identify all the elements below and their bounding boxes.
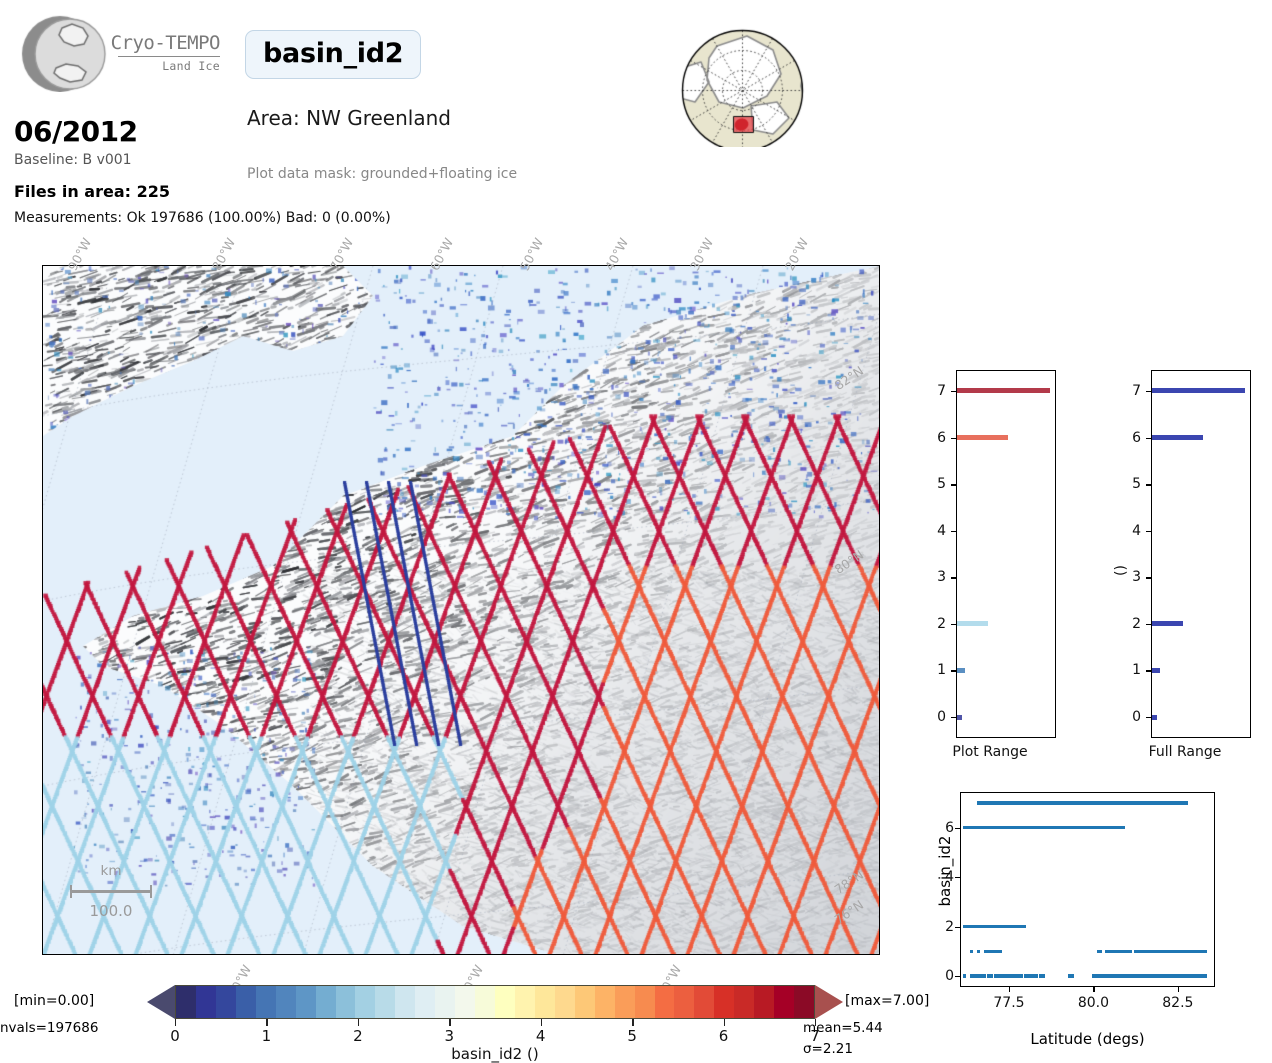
plot-range-frame <box>956 370 1056 738</box>
histogram-ytick-mark <box>1146 577 1151 578</box>
colorbar-band <box>655 986 675 1018</box>
scalebar-value: 100.0 <box>58 902 164 920</box>
colorbar-title: basin_id2 () <box>175 1045 815 1063</box>
main-map[interactable] <box>42 265 880 955</box>
colorbar-band <box>316 986 336 1018</box>
histogram-bar <box>957 715 962 720</box>
histogram-ytick-label: 1 <box>1115 662 1141 678</box>
colorbar-tick-label: 6 <box>719 1027 729 1045</box>
colorbar-band <box>216 986 236 1018</box>
scatter-ytick-label: 0 <box>928 968 954 984</box>
histogram-bar <box>957 621 988 626</box>
scatter-point <box>1042 974 1045 977</box>
histogram-ytick-mark <box>1146 624 1151 625</box>
histogram-ytick-label: 7 <box>920 383 946 399</box>
scatter-ytick-mark <box>955 877 960 878</box>
scatter-ytick-mark <box>955 927 960 928</box>
scatter-point <box>1020 974 1023 977</box>
colorbar-band <box>535 986 555 1018</box>
histogram-bar <box>1152 388 1245 393</box>
scatter-point <box>999 950 1002 953</box>
colorbar-band <box>176 986 196 1018</box>
scatter-point <box>977 950 980 953</box>
scatter-point <box>1185 801 1188 804</box>
histogram-bar <box>1152 435 1203 440</box>
histogram-bar <box>957 435 1008 440</box>
scatter-point <box>1129 950 1132 953</box>
histogram-ytick-mark <box>1146 391 1151 392</box>
scatter-point <box>1122 826 1125 829</box>
histogram-ytick-mark <box>1146 531 1151 532</box>
colorbar-band <box>555 986 575 1018</box>
colorbar-tick-label: 0 <box>170 1027 180 1045</box>
scatter-ytick-mark <box>955 828 960 829</box>
histogram-ytick-mark <box>951 670 956 671</box>
latitude-scatter-plot[interactable]: 024677.580.082.5 <box>960 792 1215 987</box>
date-label: 06/2012 <box>14 115 138 148</box>
files-count-label: Files in area: 225 <box>14 182 170 201</box>
logo-title: Cryo-TEMPO <box>100 34 220 53</box>
colorbar-band <box>415 986 435 1018</box>
area-label: Area: NW Greenland <box>247 106 451 130</box>
scatter-point <box>1204 974 1207 977</box>
colorbar-gradient <box>175 985 815 1019</box>
logo-text: Cryo-TEMPO Land Ice <box>100 34 220 73</box>
histogram-ytick-mark <box>1146 670 1151 671</box>
full-range-histogram[interactable]: Full Range () 01234567 <box>1115 370 1255 770</box>
logo-subtitle: Land Ice <box>100 59 220 73</box>
arctic-locator-map <box>655 22 830 147</box>
colorbar-band <box>475 986 495 1018</box>
histogram-ytick-label: 7 <box>1115 383 1141 399</box>
histogram-ytick-mark <box>951 484 956 485</box>
colorbar-tick-label: 5 <box>627 1027 637 1045</box>
scatter-point <box>990 974 993 977</box>
histogram-ytick-label: 6 <box>1115 430 1141 446</box>
baseline-label: Baseline: B v001 <box>14 152 132 168</box>
colorbar-tick-label: 4 <box>536 1027 546 1045</box>
scatter-xtick-label: 82.5 <box>1162 995 1193 1011</box>
scatter-point <box>983 974 986 977</box>
colorbar-tick-label: 1 <box>262 1027 272 1045</box>
plot-range-label: Plot Range <box>920 744 1060 760</box>
scatter-xtick-mark <box>1178 987 1179 992</box>
colorbar-band <box>336 986 356 1018</box>
histogram-ytick-mark <box>1146 484 1151 485</box>
histogram-bar <box>1152 621 1183 626</box>
colorbar-band <box>694 986 714 1018</box>
colorbar-tick-label: 2 <box>353 1027 363 1045</box>
histogram-ytick-mark <box>951 624 956 625</box>
histogram-ytick-label: 5 <box>920 476 946 492</box>
histogram-ytick-label: 5 <box>1115 476 1141 492</box>
logo-divider <box>118 56 220 57</box>
colorbar-band <box>236 986 256 1018</box>
colorbar-band <box>794 986 814 1018</box>
measurements-label: Measurements: Ok 197686 (100.00%) Bad: 0… <box>14 210 391 226</box>
histogram-ytick-mark <box>951 391 956 392</box>
colorbar-max-arrow-icon <box>815 985 843 1019</box>
histogram-ytick-mark <box>951 531 956 532</box>
colorbar-band <box>714 986 734 1018</box>
histogram-bar <box>1152 715 1157 720</box>
full-range-label: Full Range <box>1115 744 1255 760</box>
scatter-point <box>1099 950 1102 953</box>
scatter-point <box>970 950 973 953</box>
colorbar-band <box>256 986 276 1018</box>
colorbar-tick-label: 7 <box>810 1027 820 1045</box>
scatter-xtick-label: 77.5 <box>993 995 1024 1011</box>
histogram-ytick-mark <box>951 577 956 578</box>
scatter-xtick-mark <box>1093 987 1094 992</box>
scatter-xtick-mark <box>1009 987 1010 992</box>
colorbar[interactable]: [min=0.00] [max=7.00] nvals=197686 mean=… <box>0 975 920 1060</box>
scatter-point <box>1035 974 1038 977</box>
colorbar-band <box>455 986 475 1018</box>
histogram-ytick-label: 4 <box>1115 523 1141 539</box>
plot-mask-label: Plot data mask: grounded+floating ice <box>247 166 517 182</box>
histogram-ytick-mark <box>951 717 956 718</box>
histogram-ytick-label: 3 <box>1115 569 1141 585</box>
scatter-point <box>1071 974 1074 977</box>
scatter-xlabel: Latitude (degs) <box>960 1030 1215 1048</box>
scatter-point <box>963 974 966 977</box>
colorbar-band <box>355 986 375 1018</box>
plot-range-histogram[interactable]: Plot Range 01234567 <box>920 370 1060 770</box>
histogram-ytick-mark <box>951 438 956 439</box>
colorbar-band <box>615 986 635 1018</box>
scatter-point <box>1204 950 1207 953</box>
histogram-ytick-label: 1 <box>920 662 946 678</box>
colorbar-min-arrow-icon <box>147 985 175 1019</box>
map-canvas <box>43 266 880 955</box>
colorbar-min-label: [min=0.00] <box>14 993 94 1009</box>
colorbar-band <box>296 986 316 1018</box>
colorbar-band <box>435 986 455 1018</box>
colorbar-band <box>734 986 754 1018</box>
histogram-ytick-label: 0 <box>920 709 946 725</box>
histogram-ytick-mark <box>1146 438 1151 439</box>
scalebar-unit: km <box>70 863 152 879</box>
colorbar-ticks: 01234567 <box>175 1019 815 1041</box>
page-title: basin_id2 <box>245 30 421 79</box>
histogram-ytick-label: 3 <box>920 569 946 585</box>
scatter-ytick-mark <box>955 976 960 977</box>
colorbar-nvals-label: nvals=197686 <box>0 1020 98 1036</box>
scatter-frame <box>960 792 1215 987</box>
full-range-frame <box>1151 370 1251 738</box>
colorbar-band <box>375 986 395 1018</box>
histogram-ytick-label: 0 <box>1115 709 1141 725</box>
colorbar-band <box>575 986 595 1018</box>
colorbar-band <box>754 986 774 1018</box>
histogram-ytick-label: 6 <box>920 430 946 446</box>
colorbar-max-label: [max=7.00] <box>845 993 929 1009</box>
histogram-bar <box>957 668 965 673</box>
colorbar-band <box>276 986 296 1018</box>
scatter-xtick-label: 80.0 <box>1078 995 1109 1011</box>
colorbar-band <box>635 986 655 1018</box>
colorbar-band <box>196 986 216 1018</box>
colorbar-band <box>674 986 694 1018</box>
colorbar-band <box>395 986 415 1018</box>
histogram-ytick-mark <box>1146 717 1151 718</box>
scatter-ylabel: basin_id2 <box>936 811 954 931</box>
colorbar-tick-label: 3 <box>445 1027 455 1045</box>
scatter-point <box>1023 925 1026 928</box>
histogram-ytick-label: 2 <box>920 616 946 632</box>
colorbar-band <box>515 986 535 1018</box>
histogram-bar <box>957 388 1050 393</box>
colorbar-band <box>774 986 794 1018</box>
histogram-ytick-label: 2 <box>1115 616 1141 632</box>
colorbar-band <box>495 986 515 1018</box>
histogram-bar <box>1152 668 1160 673</box>
colorbar-band <box>595 986 615 1018</box>
histogram-ytick-label: 4 <box>920 523 946 539</box>
